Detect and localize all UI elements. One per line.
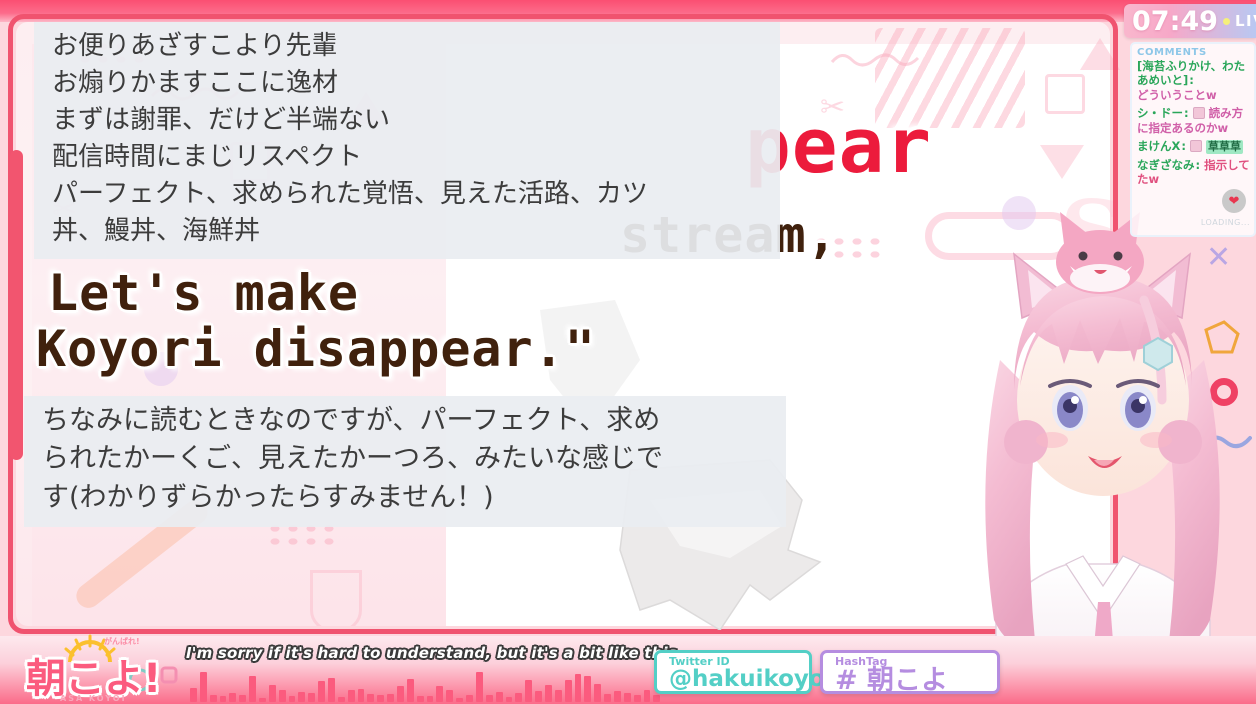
waveform-bar bbox=[555, 690, 562, 702]
subtitle-text: I'm sorry if it's hard to understand, bu… bbox=[186, 644, 656, 662]
waveform-bar bbox=[624, 693, 631, 702]
waveform-bar bbox=[466, 695, 473, 702]
waveform-bar bbox=[525, 680, 532, 702]
live-indicator-dot bbox=[1223, 18, 1230, 25]
waveform-bar bbox=[289, 696, 296, 702]
comment-author: まけんX bbox=[1137, 139, 1180, 153]
waveform-bar bbox=[298, 692, 305, 702]
left-accent-bar bbox=[10, 150, 23, 460]
show-logo: 朝こよ! がんばれ! ASA KOYOI bbox=[12, 632, 192, 702]
waveform-bar bbox=[436, 686, 443, 702]
comments-title: COMMENTS bbox=[1137, 47, 1250, 58]
hashtag-badge[interactable]: HashTag # 朝こよ bbox=[820, 650, 1000, 694]
stream-clock-bar: 07:49 LIVE bbox=[1124, 4, 1256, 38]
heart-icon[interactable]: ❤ bbox=[1222, 189, 1246, 213]
waveform-bar bbox=[604, 694, 611, 702]
headline-line-4: Koyori disappear." bbox=[36, 324, 596, 374]
loading-label: LOADING... bbox=[1201, 218, 1250, 227]
waveform-bar bbox=[614, 691, 621, 702]
emote-icon bbox=[1190, 140, 1202, 152]
waveform-bar bbox=[653, 695, 660, 702]
live-label: LIVE bbox=[1235, 12, 1256, 30]
comment-item: [海苔ふりかけ、わたあめいと]: どういうことw bbox=[1137, 59, 1250, 102]
waveform-bar bbox=[417, 696, 424, 702]
waveform-bar bbox=[220, 696, 227, 702]
waveform-bar bbox=[594, 684, 601, 702]
waveform-bar bbox=[634, 695, 641, 702]
waveform-bar bbox=[200, 672, 207, 702]
waveform-bar bbox=[644, 690, 651, 702]
waveform-bar bbox=[358, 689, 365, 702]
comment-author: シ・ドー bbox=[1137, 106, 1183, 120]
logo-tagline: がんばれ! bbox=[104, 636, 140, 647]
waveform-bar bbox=[476, 672, 483, 702]
logo-subtitle: ASA KOYOI bbox=[60, 694, 127, 703]
emote-icon bbox=[1193, 107, 1205, 119]
waveform-bar bbox=[338, 697, 345, 702]
waveform-bar bbox=[229, 693, 236, 702]
waveform-bar bbox=[456, 698, 463, 702]
waveform-bar bbox=[407, 679, 414, 702]
hashtag-value: # 朝こよ bbox=[835, 667, 985, 695]
waveform-bar bbox=[367, 694, 374, 702]
waveform-bar bbox=[279, 690, 286, 702]
comment-item: シ・ドー: 読み方に指定あるのかw bbox=[1137, 106, 1250, 135]
waveform-bar bbox=[308, 693, 315, 702]
waveform-bar bbox=[584, 676, 591, 702]
audio-waveform bbox=[190, 662, 660, 702]
waveform-bar bbox=[377, 695, 384, 702]
waveform-bar bbox=[496, 692, 503, 702]
stream-overlay-stage: ✂ S ✂ pear stream, Let's make Koyori dis… bbox=[0, 0, 1256, 704]
waveform-bar bbox=[486, 695, 493, 702]
waveform-bar bbox=[545, 685, 552, 702]
waveform-bar bbox=[269, 685, 276, 702]
comment-message: どういうことw bbox=[1137, 88, 1250, 102]
waveform-bar bbox=[575, 674, 582, 702]
comment-item: なぎざなみ: 指示してたw bbox=[1137, 158, 1250, 187]
waveform-bar bbox=[348, 690, 355, 702]
waveform-bar bbox=[210, 695, 217, 702]
waveform-bar bbox=[249, 676, 256, 702]
japanese-overlay-bottom: ちなみに読むときなのですが、パーフェクト、求め られたかーくご、見えたかーつろ、… bbox=[24, 396, 786, 527]
waveform-bar bbox=[515, 693, 522, 702]
waveform-bar bbox=[397, 686, 404, 702]
clock-time: 07:49 bbox=[1132, 6, 1218, 37]
waveform-bar bbox=[239, 695, 246, 702]
comments-panel[interactable]: COMMENTS [海苔ふりかけ、わたあめいと]: どういうことw シ・ドー: … bbox=[1130, 42, 1256, 237]
waveform-bar bbox=[506, 697, 513, 702]
waveform-bar bbox=[535, 691, 542, 702]
japanese-overlay-top: お便りあざすこより先輩 お煽りかますここに逸材 まずは謝罪、だけど半端ない 配信… bbox=[34, 22, 780, 259]
comment-author: なぎざなみ bbox=[1137, 158, 1195, 172]
waveform-bar bbox=[328, 678, 335, 702]
waveform-bar bbox=[318, 681, 325, 702]
waveform-bar bbox=[446, 690, 453, 702]
headline-line-3: Let's make bbox=[48, 268, 359, 318]
waveform-bar bbox=[427, 696, 434, 702]
twitter-id-badge[interactable]: Twitter ID @hakuikoyori bbox=[654, 650, 812, 694]
waveform-bar bbox=[259, 698, 266, 702]
waveform-bar bbox=[565, 680, 572, 702]
comment-item: まけんX: 草草草 bbox=[1137, 139, 1250, 154]
twitter-id-value: @hakuikoyori bbox=[669, 667, 797, 691]
waveform-bar bbox=[387, 694, 394, 702]
comment-message: 草草草 bbox=[1206, 140, 1243, 154]
